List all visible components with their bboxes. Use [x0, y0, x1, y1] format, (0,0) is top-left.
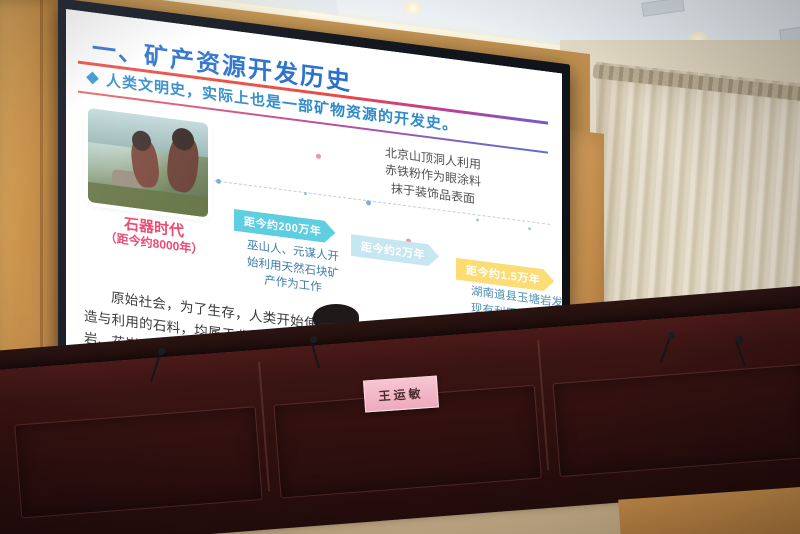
desk-panel-inset: [14, 406, 262, 518]
timeline-dot: [476, 218, 479, 221]
timeline-dot: [216, 179, 221, 185]
slide-photo: [88, 108, 208, 218]
diamond-icon: [86, 72, 99, 85]
timeline-dot: [304, 192, 307, 195]
nameplate: 王运敏: [363, 375, 439, 412]
timeline-marker-2: 距今约2万年: [351, 234, 439, 267]
timeline-desc-1: 巫山人、元谋人开 始利用天然石块矿 产作为工作: [234, 236, 352, 301]
screenshot-root: 一、矿产资源开发历史 人类文明史，实际上也是一部矿物资源的开发史。 石器时代 （…: [0, 0, 800, 534]
desk-panel-inset: [553, 364, 800, 477]
timeline-dot: [316, 154, 321, 160]
timeline-dot: [366, 200, 371, 206]
microphone-head-icon: [158, 348, 165, 355]
microphone-head-icon: [668, 332, 675, 339]
microphone-head-icon: [736, 336, 743, 343]
downlight-icon: [402, 2, 424, 14]
timeline-dot: [528, 227, 531, 230]
microphone-head-icon: [310, 336, 317, 343]
nameplate-text: 王运敏: [378, 384, 424, 404]
